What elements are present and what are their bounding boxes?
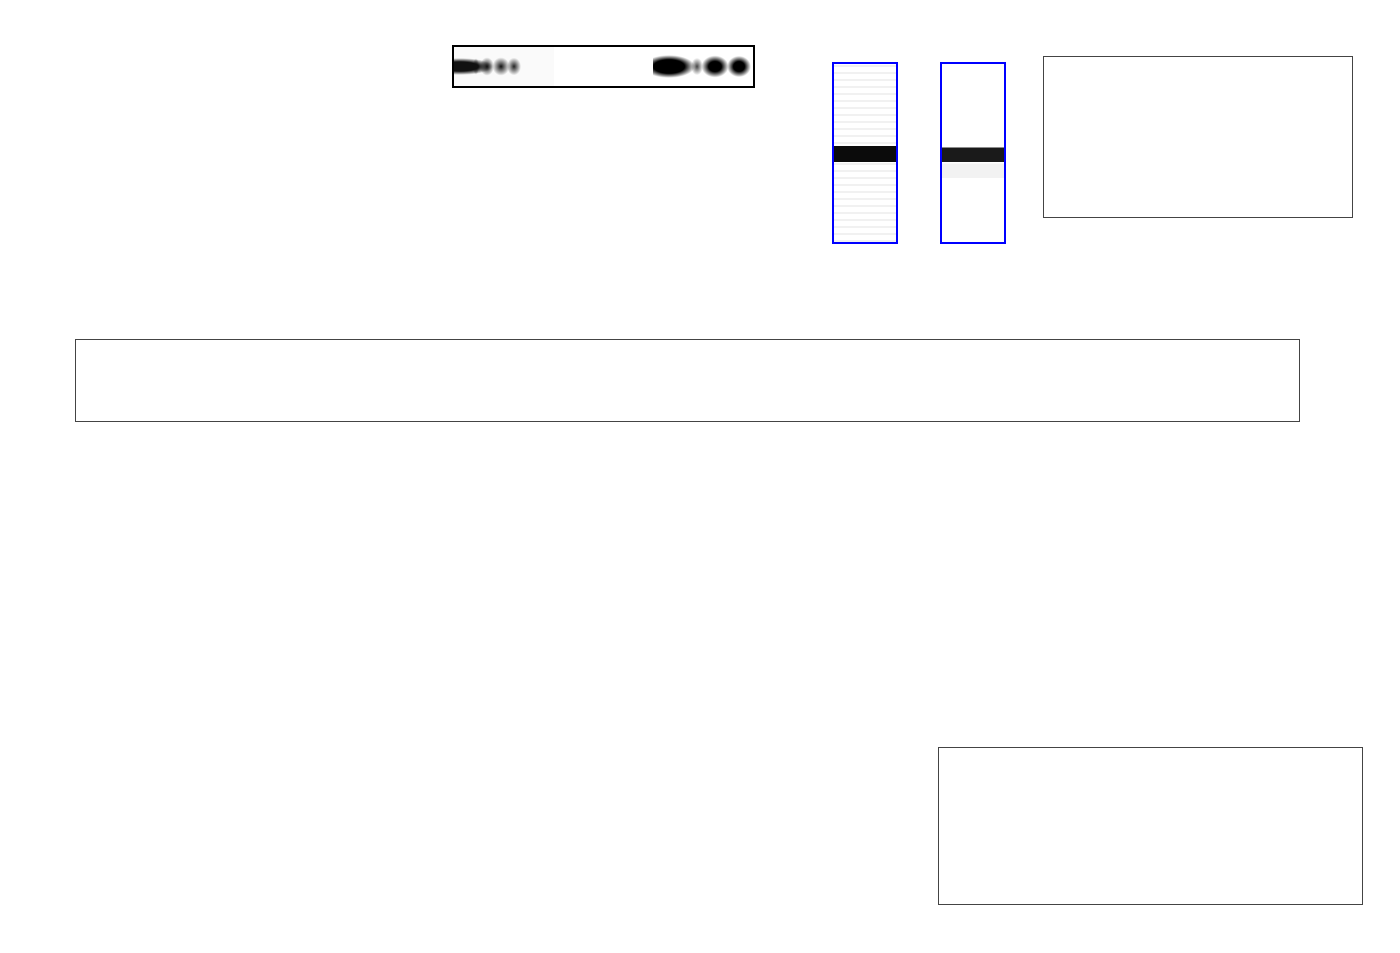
photz-pdf-plot — [938, 747, 1363, 905]
with-sky-cutout — [832, 62, 898, 244]
clean-image-cutout — [940, 62, 1006, 244]
info-plae — [62, 48, 70, 66]
line-fit-svg — [1044, 57, 1354, 219]
photz-pdf-svg — [939, 748, 1364, 906]
header-timestamp-version — [1349, 4, 1382, 68]
full-spectrum-plot — [75, 339, 1300, 422]
twod-image-2dspec-weighted — [454, 47, 554, 86]
twod-image-pixelflat-weighted — [554, 47, 653, 86]
info-cont-w — [62, 30, 70, 48]
full-spectrum-panel — [0, 268, 1400, 473]
source-info-block — [62, 30, 70, 66]
twod-image-smoothed-weighted — [653, 47, 753, 86]
full-spectrum-svg — [76, 340, 1301, 423]
line-fit-plot — [1043, 56, 1353, 218]
twod-row-weighted-sum — [452, 45, 755, 88]
